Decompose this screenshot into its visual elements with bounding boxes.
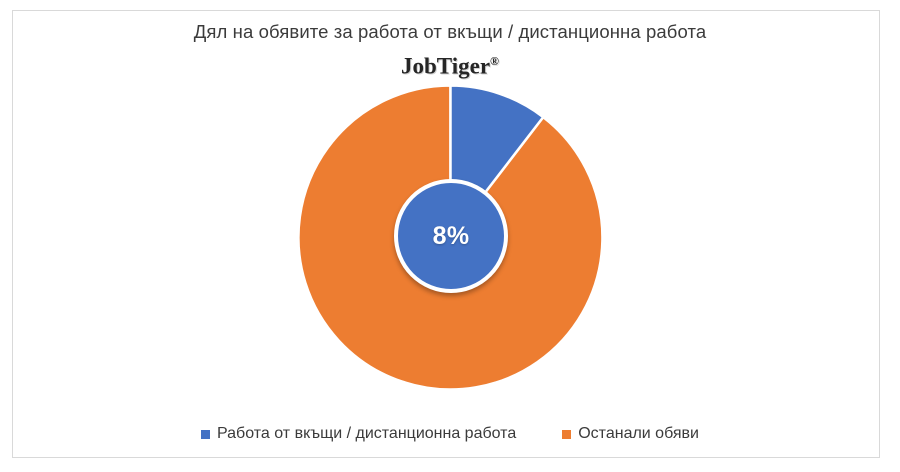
legend-swatch-orange-icon xyxy=(562,430,571,439)
center-percentage-label: 8% xyxy=(433,222,470,251)
chart-title: Дял на обявите за работа от вкъщи / дист… xyxy=(0,20,900,44)
legend-swatch-blue-icon xyxy=(201,430,210,439)
brand-title: JobTiger® xyxy=(0,46,900,82)
legend-item-work-from-home[interactable]: Работа от вкъщи / дистанционна работа xyxy=(201,424,516,444)
legend-label-work-from-home: Работа от вкъщи / дистанционна работа xyxy=(217,424,516,444)
brand-name: JobTiger xyxy=(401,54,490,79)
chart-container: Дял на обявите за работа от вкъщи / дист… xyxy=(0,0,900,472)
chart-title-block: Дял на обявите за работа от вкъщи / дист… xyxy=(0,20,900,82)
registered-trademark-icon: ® xyxy=(490,54,499,68)
legend-item-remaining-listings[interactable]: Останали обяви xyxy=(562,424,699,444)
legend-label-remaining-listings: Останали обяви xyxy=(578,424,699,444)
center-value-bubble: 8% xyxy=(394,179,508,293)
chart-legend: Работа от вкъщи / дистанционна работа Ос… xyxy=(0,424,900,444)
